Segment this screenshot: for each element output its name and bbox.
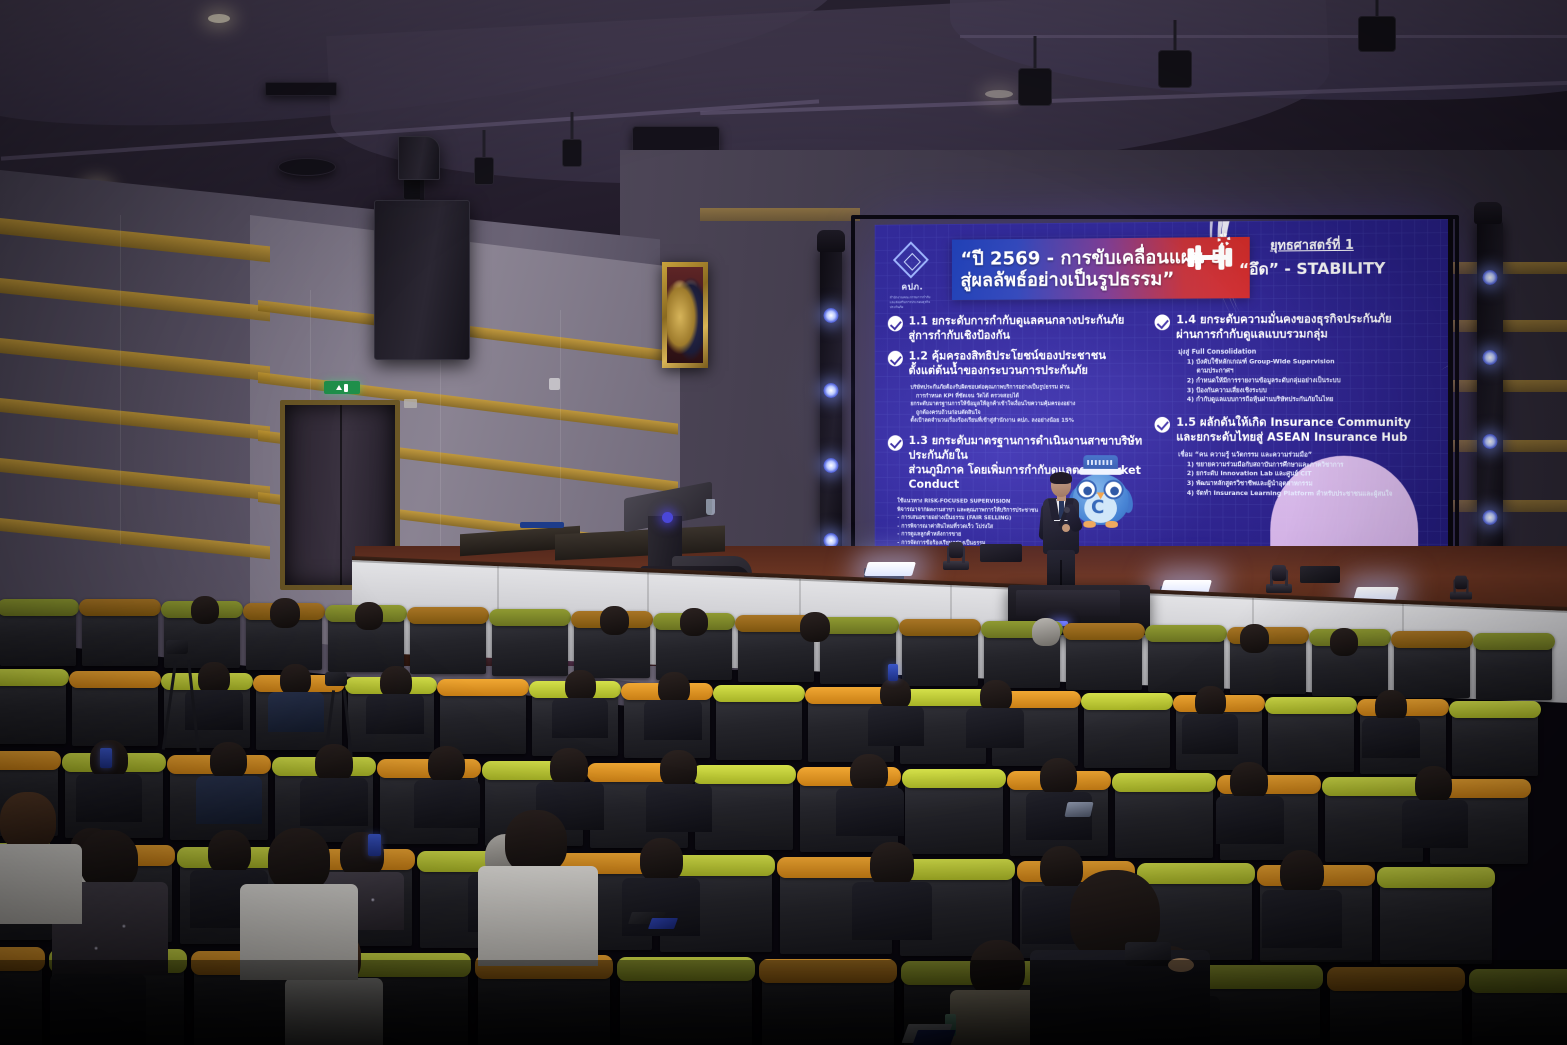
video-camera <box>325 672 347 686</box>
owl-letter: C <box>1091 498 1104 517</box>
audience-head <box>191 596 219 624</box>
audience-phone[interactable] <box>888 664 898 681</box>
sub-item: 4) จัดทำ Insurance Learning Platform สำห… <box>1187 489 1438 500</box>
seat <box>1452 710 1538 776</box>
audience-torso <box>1182 714 1238 754</box>
wall-switch[interactable] <box>549 378 560 390</box>
audience-head <box>800 612 830 642</box>
sub-item: การกำหนด KPI ที่ชัดเจน วัดได้ ตรวจสอบได้ <box>916 392 1147 400</box>
gear-icon <box>1217 233 1230 246</box>
dumbbell-icon <box>1187 237 1232 281</box>
audience-head <box>600 606 629 635</box>
sub-item: ตามประกาศฯ <box>1197 367 1439 377</box>
audience-head <box>1040 758 1077 796</box>
wall-gold-stripe <box>1452 262 1567 274</box>
audience-head <box>505 810 567 874</box>
tower-led-fixture <box>824 383 839 398</box>
strategy-label: ยุทธศาสตร์ที่ 1 <box>1239 234 1386 256</box>
bullet-number: 1.5 <box>1176 415 1196 429</box>
audience-head <box>1415 766 1452 804</box>
sub-header: เชื่อม “คน ความรู้ นวัตกรรม และความร่วมม… <box>1178 450 1438 460</box>
audience-torso <box>868 706 924 746</box>
ceiling-dome-speaker <box>278 158 336 176</box>
audience-laptop[interactable] <box>1064 802 1093 817</box>
exit-sign <box>324 381 360 394</box>
ceiling-downlight <box>985 90 1013 98</box>
audience-head <box>1032 618 1060 646</box>
seat <box>905 778 1003 854</box>
audience-head <box>660 750 697 788</box>
bullet-heading-line1: ยกระดับความมั่นคงของธุรกิจประกันภัย <box>1200 311 1392 326</box>
audience-torso <box>1216 796 1284 844</box>
lectern-indicator-light <box>662 512 673 523</box>
audience-head <box>428 746 465 784</box>
royal-portrait <box>662 262 708 368</box>
audience-torso <box>1402 800 1468 848</box>
bullet-1-2-subs: บริษัทประกันภัยต้องรับผิดชอบต่อคุณภาพบริ… <box>910 384 1147 426</box>
audience-document <box>648 918 678 929</box>
bullet-number: 1.1 <box>909 314 928 328</box>
bullet-1-5-subs: เชื่อม “คน ความรู้ นวัตกรรม และความร่วมม… <box>1178 450 1438 499</box>
sub-item: 3) พัฒนาหลักสูตรวิชาชีพและผู้นำอุตสาหกรร… <box>1187 479 1438 490</box>
sub-item: ถูกต้องครบถ้วนก่อนตัดสินใจ <box>916 409 1147 417</box>
seat <box>82 608 158 666</box>
tower-led-fixture <box>1483 350 1498 365</box>
check-icon <box>1155 417 1170 433</box>
seat <box>72 680 158 746</box>
seat <box>1476 642 1552 700</box>
bullet-heading-line2: และยกระดับไทยสู่ ASEAN Insurance Hub <box>1176 430 1407 444</box>
portrait-image <box>667 267 703 363</box>
tower-led-fixture <box>1483 510 1498 525</box>
audience-torso <box>646 784 712 832</box>
bullet-heading-line1: คุ้มครองสิทธิประโยชน์ของประชาชน <box>932 348 1106 362</box>
audience-head <box>1040 846 1083 891</box>
presenter-hair <box>1050 472 1072 484</box>
hanging-stage-light <box>1355 0 1399 52</box>
hanging-stage-light <box>1155 20 1195 88</box>
water-glass <box>706 499 715 515</box>
audience-head <box>210 742 247 780</box>
audience-torso <box>644 700 702 740</box>
audience-torso <box>414 780 480 828</box>
audience-torso <box>852 882 932 940</box>
bullet-heading-line2: สู่การกำกับเชิงป้องกัน <box>909 328 1010 342</box>
sub-item: 1) บังคับใช้หลักเกณฑ์ Group-Wide Supervi… <box>1187 357 1438 367</box>
bullet-number: 1.3 <box>909 433 928 447</box>
audience-torso <box>552 698 608 738</box>
seat <box>492 618 568 676</box>
seat <box>1148 634 1224 692</box>
bullet-1-4-subs: มุ่งสู่ Full Consolidation 1) บังคับใช้ห… <box>1178 347 1438 405</box>
bullet-heading-line2: ผ่านการกำกับดูแลแบบรวมกลุ่ม <box>1176 327 1328 341</box>
audience-head <box>640 838 683 883</box>
sub-item: บริษัทประกันภัยต้องรับผิดชอบต่อคุณภาพบริ… <box>910 384 1147 393</box>
ceiling-downlight <box>208 14 230 23</box>
slide-body: 1.1 ยกระดับการกำกับดูแลคนกลางประกันภัย ส… <box>888 311 1438 576</box>
audience-head <box>208 830 251 875</box>
microphone-head <box>1064 507 1070 513</box>
seat <box>820 626 896 684</box>
bullet-1-1: 1.1 ยกระดับการกำกับดูแลคนกลางประกันภัย ส… <box>888 313 1147 344</box>
audience-torso <box>76 774 142 822</box>
sub-item: 3) ป้องกันความเสี่ยงเชิงระบบ <box>1187 386 1438 396</box>
ceiling-rail-fixture <box>265 82 337 96</box>
owl-eye-right <box>1103 480 1123 500</box>
wall-panel-seam <box>560 310 561 550</box>
audience-torso <box>1262 890 1342 948</box>
wall-panel-seam <box>120 215 121 545</box>
presenter-hand <box>1062 524 1070 532</box>
seat <box>1066 632 1142 690</box>
video-camera <box>166 640 188 654</box>
hanging-spotlight <box>470 130 498 185</box>
bullet-heading-line1: ยกระดับการกำกับดูแลคนกลางประกันภัย <box>932 313 1125 328</box>
bullet-1-5: 1.5 ผลักดันให้เกิด Insurance Community แ… <box>1155 415 1438 445</box>
sub-item: 2) กำหนดให้มีการรายงานข้อมูลระดับกลุ่มอย… <box>1187 376 1438 386</box>
wall-gold-stripe <box>1452 500 1567 512</box>
table-microphone <box>520 522 564 528</box>
wall-gold-stripe <box>700 208 860 221</box>
audience-head <box>1330 628 1358 656</box>
wall-fixture <box>404 399 417 408</box>
audience-torso <box>268 692 324 732</box>
seat <box>440 688 526 754</box>
bullet-number: 1.2 <box>909 349 928 363</box>
exit-person-icon <box>344 384 348 392</box>
tower-led-fixture <box>824 458 839 473</box>
oic-logo: คปภ. สำนักงานคณะกรรมการกำกับและส่งเสริมก… <box>890 247 935 308</box>
tower-moving-head <box>1474 202 1502 224</box>
seat <box>0 678 66 744</box>
bullet-number: 1.4 <box>1176 312 1196 326</box>
owl-hat-band <box>1087 460 1114 465</box>
strategy-value: “อึด” - STABILITY <box>1239 257 1386 283</box>
tower-led-fixture <box>824 308 839 323</box>
bullet-1-4: 1.4 ยกระดับความมั่นคงของธุรกิจประกันภัย … <box>1155 311 1438 342</box>
bullet-1-2: 1.2 คุ้มครองสิทธิประโยชน์ของประชาชน ตั้ง… <box>888 348 1147 378</box>
audience-torso <box>300 778 368 826</box>
line-array-speaker <box>374 200 470 360</box>
tower-led-fixture <box>1483 434 1498 449</box>
line-array-speaker-top <box>398 136 440 180</box>
audience-head <box>80 830 138 890</box>
slide-right-column: 1.4 ยกระดับความมั่นคงของธุรกิจประกันภัย … <box>1155 311 1438 576</box>
seat <box>1380 876 1492 964</box>
wall-gold-stripe <box>1452 380 1567 392</box>
audience-torso <box>0 844 82 924</box>
check-icon <box>888 435 903 451</box>
audience-phone[interactable] <box>368 834 381 856</box>
bullet-heading-line1: ผลักดันให้เกิด Insurance Community <box>1200 415 1411 429</box>
audience-torso <box>966 708 1024 748</box>
hanging-stage-light <box>1015 36 1055 106</box>
hanging-spotlight <box>558 112 586 167</box>
seat <box>1268 706 1354 772</box>
audience-torso <box>836 788 904 836</box>
seat <box>410 616 486 674</box>
owl-beak <box>1097 492 1105 499</box>
exit-arrow-icon <box>336 385 342 390</box>
seat <box>1115 782 1213 858</box>
audience-phone[interactable] <box>100 748 112 768</box>
strategy-badge: ยุทธศาสตร์ที่ 1 “อึด” - STABILITY <box>1187 234 1385 283</box>
auditorium-scene: คปภ. สำนักงานคณะกรรมการกำกับและส่งเสริมก… <box>0 0 1567 1045</box>
seat <box>716 694 802 760</box>
logo-subtext: สำนักงานคณะกรรมการกำกับและส่งเสริมการประ… <box>890 295 935 310</box>
audience-head <box>1240 624 1269 653</box>
sub-item: ตั้งเป้าลดจำนวนเรื่องร้องเรียนที่เข้าสู่… <box>910 417 1147 425</box>
owl-foot-right <box>1105 521 1118 528</box>
wall-gold-stripe <box>1452 440 1567 452</box>
check-icon <box>888 351 903 367</box>
seat <box>1084 702 1170 768</box>
audience-head <box>0 792 56 850</box>
audience-torso <box>478 866 598 966</box>
audience-head <box>355 602 383 630</box>
audience-head <box>270 598 300 628</box>
wall-gold-stripe <box>1452 320 1567 332</box>
seat <box>902 628 978 686</box>
seat <box>1394 640 1470 698</box>
audience-torso <box>1362 718 1420 758</box>
check-icon <box>888 316 903 332</box>
logo-text: คปภ. <box>901 280 923 294</box>
bullet-heading-line2: ตั้งแต่ต้นน้ำของกระบวนการประกันภัย <box>909 363 1088 377</box>
foreground-shadow <box>0 960 1567 1045</box>
check-icon <box>1155 314 1170 330</box>
audience-head <box>680 608 708 636</box>
sub-item: 4) กำกับดูแลแบบการถือหุ้นผ่านบริษัทประกั… <box>1187 395 1438 405</box>
audience-head <box>268 828 330 892</box>
sub-item: ยกระดับมาตรฐานการให้ข้อมูลให้ลูกค้าเข้าใ… <box>910 400 1147 408</box>
tower-moving-head <box>817 230 845 252</box>
audience-torso <box>366 694 424 734</box>
audience-torso <box>196 776 262 824</box>
seat <box>0 608 76 666</box>
tower-led-fixture <box>1483 270 1498 285</box>
